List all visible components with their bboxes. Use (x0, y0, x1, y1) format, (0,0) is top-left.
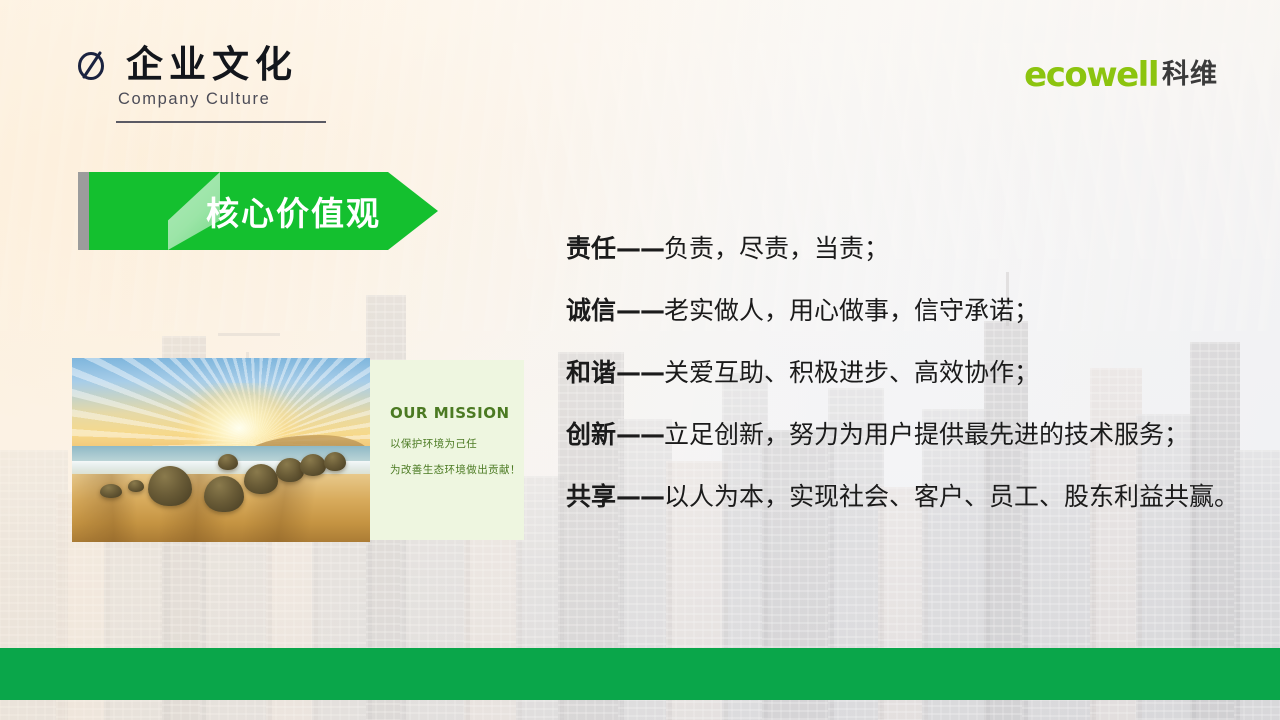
page-title: 企业文化 (126, 46, 298, 83)
header-divider (116, 121, 326, 123)
value-item: 责任——负责，尽责，当责； (566, 236, 1256, 261)
core-values-banner: 核心价值观 (78, 172, 438, 250)
value-key: 责任 (566, 234, 616, 263)
value-item: 诚信——老实做人，用心做事，信守承诺； (566, 298, 1256, 323)
logo-wordmark: ecowell (1024, 58, 1158, 92)
value-item: 和谐——关爱互助、积极进步、高效协作； (566, 360, 1256, 385)
page-subtitle: Company Culture (118, 90, 326, 109)
value-key: 创新 (566, 420, 616, 449)
mission-card: OUR MISSION 以保护环境为己任 为改善生态环境做出贡献！ (72, 358, 524, 542)
value-key: 诚信 (566, 296, 616, 325)
brand-logo: ecowell 科维 (1024, 58, 1218, 92)
mission-text-panel: OUR MISSION 以保护环境为己任 为改善生态环境做出贡献！ (370, 360, 524, 540)
value-text: 立足创新，努力为用户提供最先进的技术服务； (664, 420, 1189, 449)
value-dash: —— (616, 234, 664, 263)
logo-chinese-name: 科维 (1162, 61, 1218, 88)
value-text: 关爱互助、积极进步、高效协作； (664, 358, 1039, 387)
banner-left-edge (78, 172, 89, 250)
value-text: 以人为本，实现社会、客户、员工、股东利益共赢。 (664, 482, 1239, 511)
mission-line-1: 以保护环境为己任 (390, 436, 524, 451)
mission-line-2: 为改善生态环境做出贡献！ (390, 462, 524, 477)
page-header: 企业文化 Company Culture (74, 46, 326, 123)
value-key: 共享 (566, 482, 616, 511)
mission-title: OUR MISSION (390, 404, 524, 422)
mission-photo (72, 358, 370, 542)
value-text: 负责，尽责，当责； (664, 234, 889, 263)
footer-accent-bar (0, 648, 1280, 700)
slash-circle-icon (74, 47, 110, 83)
value-item: 共享——以人为本，实现社会、客户、员工、股东利益共赢。 (566, 484, 1256, 509)
value-dash: —— (616, 482, 664, 511)
banner-label: 核心价值观 (206, 172, 381, 250)
value-key: 和谐 (566, 358, 616, 387)
value-dash: —— (616, 358, 664, 387)
value-item: 创新——立足创新，努力为用户提供最先进的技术服务； (566, 422, 1256, 447)
value-dash: —— (616, 296, 664, 325)
core-values-list: 责任——负责，尽责，当责； 诚信——老实做人，用心做事，信守承诺； 和谐——关爱… (566, 236, 1256, 509)
value-dash: —— (616, 420, 664, 449)
value-text: 老实做人，用心做事，信守承诺； (664, 296, 1039, 325)
